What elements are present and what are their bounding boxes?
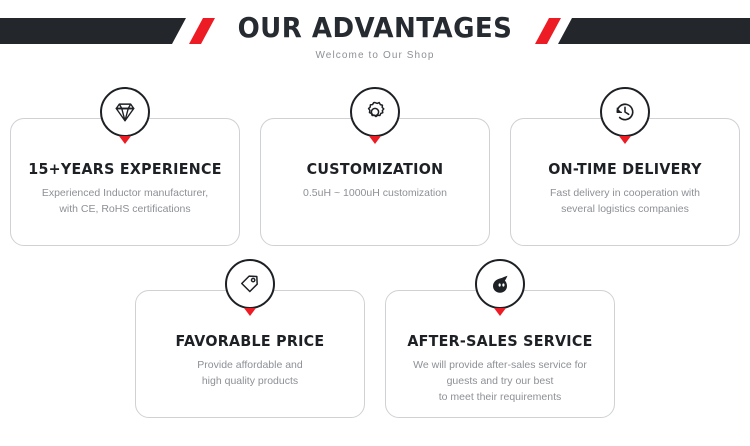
card-body: Fast delivery in cooperation with severa…: [519, 185, 731, 217]
card-pointer-triangle: [119, 136, 131, 144]
card-body: Experienced Inductor manufacturer, with …: [19, 185, 231, 217]
card-body-line: Provide affordable and: [144, 357, 356, 373]
advantage-card-after-sales[interactable]: AFTER-SALES SERVICE We will provide afte…: [385, 290, 615, 418]
clock-history-icon: [600, 87, 650, 137]
card-body-line: Fast delivery in cooperation with: [519, 185, 731, 201]
card-body-line: with CE, RoHS certifications: [19, 201, 231, 217]
card-body: Provide affordable and high quality prod…: [144, 357, 356, 389]
page-title: OUR ADVANTAGES: [26, 11, 724, 45]
card-body-line: guests and try our best: [394, 373, 606, 389]
advantage-card-customization[interactable]: CUSTOMIZATION 0.5uH ~ 1000uH customizati…: [260, 118, 490, 246]
card-title: FAVORABLE PRICE: [142, 332, 359, 350]
card-body: We will provide after-sales service for …: [394, 357, 606, 405]
card-pointer-triangle: [244, 308, 256, 316]
card-body-line: Experienced Inductor manufacturer,: [19, 185, 231, 201]
card-body-line: high quality products: [144, 373, 356, 389]
card-body-line: several logistics companies: [519, 201, 731, 217]
card-body: 0.5uH ~ 1000uH customization: [269, 185, 481, 201]
card-body-line: to meet their requirements: [394, 389, 606, 405]
card-body-line: We will provide after-sales service for: [394, 357, 606, 373]
support-chat-icon: [475, 259, 525, 309]
advantage-card-delivery[interactable]: ON-TIME DELIVERY Fast delivery in cooper…: [510, 118, 740, 246]
page-subtitle: Welcome to Our Shop: [0, 50, 750, 61]
card-title: AFTER-SALES SERVICE: [392, 332, 609, 350]
advantages-row-top: 15+YEARS EXPERIENCE Experienced Inductor…: [0, 118, 750, 246]
advantages-row-bottom: FAVORABLE PRICE Provide affordable and h…: [0, 290, 750, 418]
diamond-icon: [100, 87, 150, 137]
card-pointer-triangle: [494, 308, 506, 316]
advantage-card-price[interactable]: FAVORABLE PRICE Provide affordable and h…: [135, 290, 365, 418]
advantage-card-experience[interactable]: 15+YEARS EXPERIENCE Experienced Inductor…: [10, 118, 240, 246]
price-tag-icon: [225, 259, 275, 309]
card-title: CUSTOMIZATION: [267, 160, 484, 178]
card-title: ON-TIME DELIVERY: [517, 160, 734, 178]
page-header: OUR ADVANTAGES Welcome to Our Shop: [0, 0, 750, 72]
card-pointer-triangle: [369, 136, 381, 144]
card-title: 15+YEARS EXPERIENCE: [17, 160, 234, 178]
page-title-wrap: OUR ADVANTAGES: [0, 11, 750, 45]
card-body-line: 0.5uH ~ 1000uH customization: [269, 185, 481, 201]
gear-icon: [350, 87, 400, 137]
card-pointer-triangle: [619, 136, 631, 144]
